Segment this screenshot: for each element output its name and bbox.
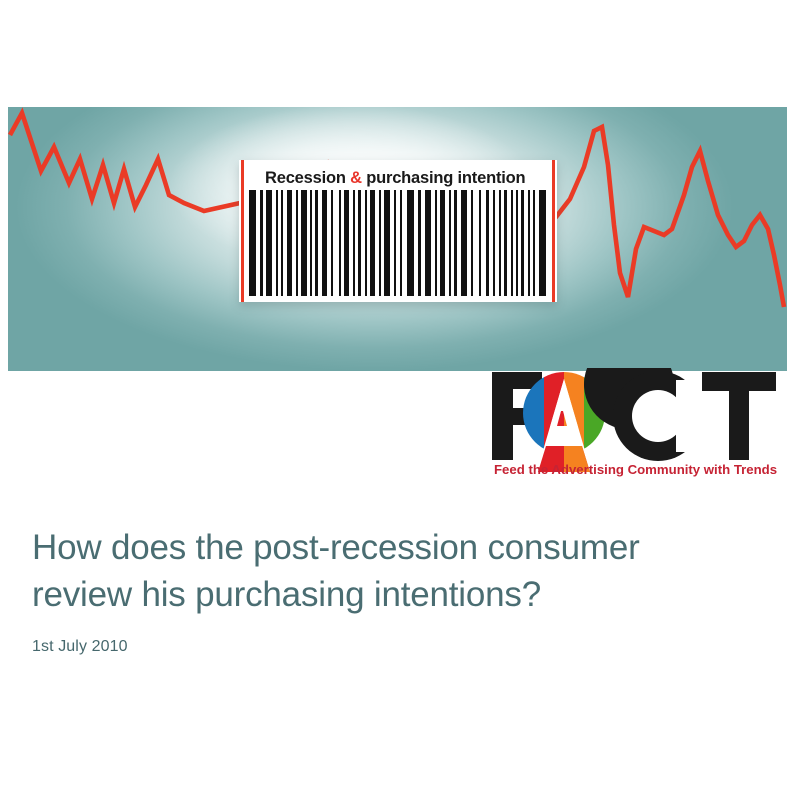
barcode-title-ampersand: &: [350, 169, 362, 187]
page-title-line-1: How does the post-recession consumer: [32, 528, 640, 567]
fact-logo: Feed the Advertising Community with Tren…: [490, 368, 790, 478]
page-title-line-2: review his purchasing intentions?: [32, 575, 541, 614]
title-block: How does the post-recession consumer rev…: [32, 524, 752, 656]
barcode-bars: [247, 190, 549, 296]
presentation-date: 1st July 2010: [32, 638, 752, 656]
recession-banner: Recession & purchasing intention: [8, 107, 787, 371]
page-title: How does the post-recession consumer rev…: [32, 524, 752, 618]
barcode-title-prefix: Recession: [265, 169, 350, 187]
logo-letter-c: [584, 368, 705, 461]
barcode-left-edge-marker: [241, 160, 244, 302]
barcode-title: Recession & purchasing intention: [265, 166, 535, 190]
barcode-right-edge-marker: [552, 160, 555, 302]
logo-letter-t: [702, 372, 776, 460]
barcode-panel: Recession & purchasing intention: [239, 160, 557, 302]
barcode-title-suffix: purchasing intention: [362, 169, 526, 187]
logo-tagline: Feed the Advertising Community with Tren…: [494, 462, 777, 477]
